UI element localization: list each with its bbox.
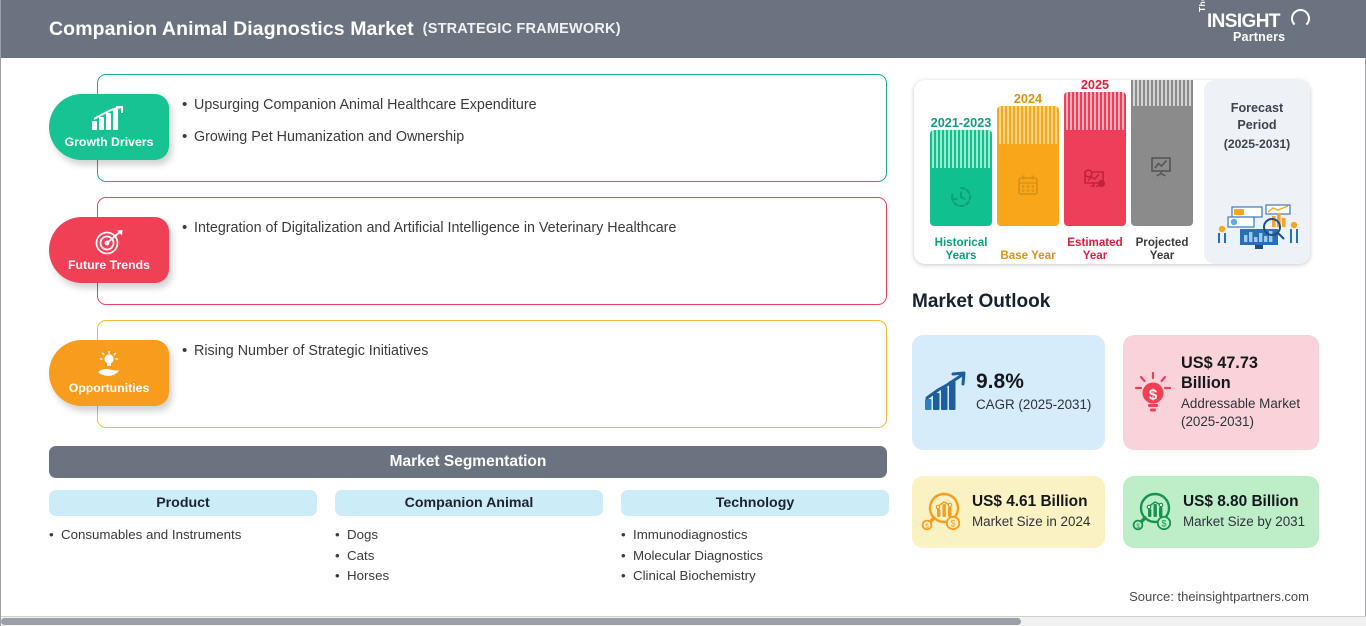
presentation-chart-icon (1149, 154, 1175, 178)
future-trends-list: Integration of Digitalization and Artifi… (98, 198, 886, 238)
opportunities-list: Rising Number of Strategic Initiatives (98, 321, 886, 361)
segmentation-item-list: Consumables and Instruments (49, 525, 317, 546)
bar-stripe-top (1064, 92, 1126, 130)
bar-tick-label: 2025 (1064, 80, 1126, 92)
badge-label: Growth Drivers (65, 135, 154, 149)
badge-future-trends[interactable]: Future Trends (49, 217, 169, 283)
horizontal-scrollbar[interactable] (1, 616, 1366, 626)
bar-tick-label: 2024 (997, 92, 1059, 106)
svg-text:$: $ (1161, 519, 1166, 529)
outlook-card-market-size-2031[interactable]: $ $ US$ 8.80 Billion Market Size by 2031 (1123, 476, 1319, 548)
bar-shape (1131, 80, 1193, 226)
history-clock-icon (949, 185, 973, 209)
list-item: Immunodiagnostics (621, 525, 889, 546)
list-item: Integration of Digitalization and Artifi… (194, 220, 866, 238)
scrollbar-thumb[interactable] (1, 618, 1021, 625)
outlook-value-line1: US$ 47.73 (1181, 354, 1311, 374)
bar-shape (930, 130, 992, 226)
forecast-period-panel: Forecast Period (2025-2031) (1204, 80, 1310, 264)
insight-partners-logo: The INSIGHT Partners (1197, 9, 1309, 49)
forecast-title-line1: Forecast (1210, 100, 1304, 117)
forecast-timeline-panel: 2021-2023 Historical Years 2024 (914, 80, 1310, 264)
page-title: Companion Animal Diagnostics Market (49, 18, 414, 41)
outlook-card-market-size-2024[interactable]: $ $ US$ 4.61 Billion Market Size in 2024 (912, 476, 1105, 548)
segmentation-column-header: Companion Animal (335, 490, 603, 516)
source-attribution: Source: theinsightpartners.com (1129, 589, 1309, 604)
outlook-caption: Addressable Market (2025-2031) (1181, 395, 1311, 431)
bar-chart-growth-icon (90, 106, 128, 132)
growth-drivers-list: Upsurging Companion Animal Healthcare Ex… (98, 75, 886, 147)
forecast-bars: 2021-2023 Historical Years 2024 (914, 80, 1204, 264)
magnifier-chart-dollar-icon: $ $ (1131, 489, 1177, 535)
segmentation-column-product: Product Consumables and Instruments (49, 490, 317, 546)
outlook-value: 9.8% (976, 371, 1091, 394)
bar-category-label: Historical Years (930, 236, 992, 262)
logo-ring-icon (1291, 9, 1310, 28)
money-bulb-icon: $ (1131, 370, 1175, 416)
forecast-period-range: (2025-2031) (1204, 137, 1310, 151)
badge-label: Opportunities (69, 381, 150, 395)
outlook-card-text: US$ 4.61 Billion Market Size in 2024 (966, 493, 1090, 531)
segmentation-item-list: Immunodiagnostics Molecular Diagnostics … (621, 525, 889, 587)
segmentation-header-label: Technology (716, 495, 795, 511)
target-dart-icon (92, 229, 126, 255)
market-segmentation-header: Market Segmentation (49, 446, 887, 478)
badge-opportunities[interactable]: Opportunities (49, 340, 169, 406)
bar-category-label: Projected Year (1131, 236, 1193, 262)
svg-text:$: $ (950, 519, 955, 529)
logo-line-partners: Partners (1233, 30, 1285, 44)
segmentation-header-label: Companion Animal (405, 495, 534, 511)
lightbulb-hand-icon (92, 352, 126, 378)
outlook-card-text: 9.8% CAGR (2025-2031) (970, 371, 1091, 414)
outlook-card-cagr[interactable]: 9.8% CAGR (2025-2031) (912, 335, 1105, 450)
bar-body (1131, 106, 1193, 226)
bar-chart-arrow-icon (922, 371, 970, 415)
bar-shape (1064, 92, 1126, 226)
svg-text:$: $ (1149, 386, 1158, 403)
bar-body (930, 168, 992, 226)
bar-category-label: Base Year (997, 249, 1059, 262)
outlook-value: US$ 4.61 Billion (972, 493, 1090, 511)
magnifier-chart-dollar-icon: $ $ (920, 489, 966, 535)
segmentation-column-technology: Technology Immunodiagnostics Molecular D… (621, 490, 889, 587)
outlook-card-text: US$ 47.73 Billion Addressable Market (20… (1175, 354, 1311, 431)
list-item: Clinical Biochemistry (621, 566, 889, 587)
future-trends-box: Integration of Digitalization and Artifi… (97, 197, 887, 305)
list-item: Upsurging Companion Animal Healthcare Ex… (194, 97, 866, 115)
badge-growth-drivers[interactable]: Growth Drivers (49, 94, 169, 160)
list-item: Horses (335, 566, 603, 587)
outlook-caption: CAGR (2025-2031) (976, 396, 1091, 414)
list-item: Cats (335, 546, 603, 567)
outlook-caption: Market Size by 2031 (1183, 513, 1305, 531)
bar-stripe-top (930, 130, 992, 168)
bar-body (1064, 130, 1126, 226)
logo-line-the: The (1197, 0, 1207, 12)
bar-category-label: Estimated Year (1064, 236, 1126, 262)
outlook-card-text: US$ 8.80 Billion Market Size by 2031 (1177, 493, 1305, 531)
forecast-gear-chart-icon (1082, 166, 1108, 190)
outlook-value-line2: Billion (1181, 374, 1311, 394)
page-header: Companion Animal Diagnostics Market (STR… (1, 0, 1366, 58)
badge-label: Future Trends (68, 258, 150, 272)
segmentation-header-label: Product (156, 495, 210, 511)
calendar-icon (1016, 173, 1040, 197)
bar-body (997, 144, 1059, 226)
list-item: Growing Pet Humanization and Ownership (194, 129, 866, 147)
list-item: Rising Number of Strategic Initiatives (194, 343, 866, 361)
segmentation-column-header: Technology (621, 490, 889, 516)
forecast-title-line2: Period (1210, 117, 1304, 134)
opportunities-box: Rising Number of Strategic Initiatives (97, 320, 887, 428)
page-subtitle: (STRATEGIC FRAMEWORK) (423, 21, 621, 37)
outlook-caption: Market Size in 2024 (972, 513, 1090, 531)
forecast-period-title: Forecast Period (1204, 80, 1310, 134)
list-item: Consumables and Instruments (49, 525, 317, 546)
analytics-dashboard-illustration (1210, 193, 1304, 256)
bar-tick-label: 2021-2023 (930, 116, 992, 130)
segmentation-column-header: Product (49, 490, 317, 516)
outlook-card-addressable-market[interactable]: $ US$ 47.73 Billion Addressable Market (… (1123, 335, 1319, 450)
infographic-canvas: Companion Animal Diagnostics Market (STR… (0, 0, 1366, 626)
list-item: Dogs (335, 525, 603, 546)
growth-drivers-box: Upsurging Companion Animal Healthcare Ex… (97, 74, 887, 182)
outlook-value: US$ 8.80 Billion (1183, 493, 1305, 511)
list-item: Molecular Diagnostics (621, 546, 889, 567)
market-outlook-title: Market Outlook (912, 291, 1050, 313)
segmentation-column-companion-animal: Companion Animal Dogs Cats Horses (335, 490, 603, 587)
bar-stripe-top (997, 106, 1059, 144)
bar-stripe-top (1131, 80, 1193, 106)
market-segmentation-title: Market Segmentation (390, 453, 547, 471)
segmentation-item-list: Dogs Cats Horses (335, 525, 603, 587)
bar-shape (997, 106, 1059, 226)
